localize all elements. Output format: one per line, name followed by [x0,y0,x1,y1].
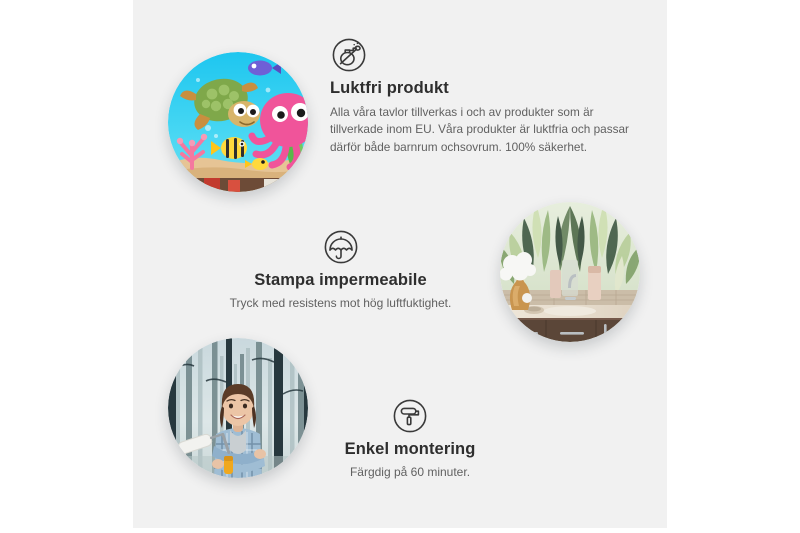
no-fragrance-spray-bottle-icon [332,38,366,72]
feature-banner: Luktfri produkt Alla våra tavlor tillver… [0,0,800,533]
feature-waterproof: Stampa impermeabile Tryck med resistens … [213,230,468,312]
feature-odourless: Luktfri produkt Alla våra tavlor tillver… [330,38,630,156]
umbrella-icon [324,230,358,264]
feature-body: Tryck med resistens mot hög luftfuktighe… [213,295,468,313]
paint-roller-icon [393,399,427,433]
feature-body: Färgdig på 60 minuter. [305,464,515,482]
feature-title: Luktfri produkt [330,78,630,99]
photo-painter-circle [168,338,308,478]
feature-title: Stampa impermeabile [213,270,468,291]
feature-title: Enkel montering [305,439,515,460]
feature-easy-mounting: Enkel montering Färgdig på 60 minuter. [305,399,515,481]
photo-ocean-circle [168,52,308,192]
feature-body: Alla våra tavlor tillverkas i och av pro… [330,104,630,156]
photo-bathroom-circle [500,202,640,342]
